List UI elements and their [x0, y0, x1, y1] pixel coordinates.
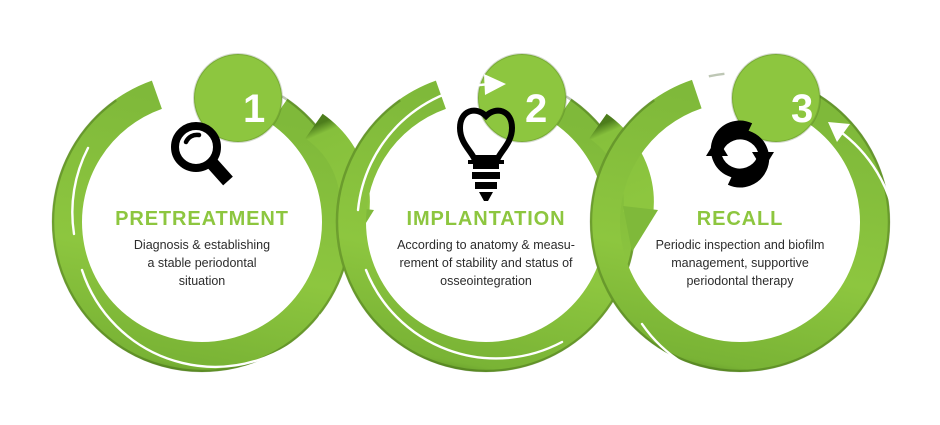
magnifier-icon: [164, 102, 240, 206]
step-1-desc-line-2: a stable periodontal: [134, 254, 270, 272]
step-1-desc-line-1: Diagnosis & establishing: [134, 236, 270, 254]
step-3-description: Periodic inspection and biofilm manageme…: [656, 236, 825, 290]
step-2-description: According to anatomy & measu- rement of …: [397, 236, 575, 290]
step-3-desc-line-2: management, supportive: [656, 254, 825, 272]
step-1-content: PRETREATMENT Diagnosis & establishing a …: [86, 102, 318, 342]
process-infographic: PRETREATMENT Diagnosis & establishing a …: [0, 0, 940, 425]
step-3-desc-line-1: Periodic inspection and biofilm: [656, 236, 825, 254]
recycle-refresh-icon: [702, 102, 778, 206]
step-2-desc-line-1: According to anatomy & measu-: [397, 236, 575, 254]
step-3-title: RECALL: [697, 208, 784, 230]
step-3-desc-line-3: periodontal therapy: [656, 272, 825, 290]
step-1-title: PRETREATMENT: [115, 208, 289, 230]
step-1-description: Diagnosis & establishing a stable period…: [134, 236, 270, 290]
step-2-desc-line-3: osseointegration: [397, 272, 575, 290]
step-2-title: IMPLANTATION: [407, 208, 566, 230]
step-3-content: RECALL Periodic inspection and biofilm m…: [624, 102, 856, 342]
step-1-desc-line-3: situation: [134, 272, 270, 290]
dental-implant-icon: [450, 102, 522, 206]
process-step-3[interactable]: RECALL Periodic inspection and biofilm m…: [590, 72, 890, 372]
step-2-desc-line-2: rement of stability and status of: [397, 254, 575, 272]
